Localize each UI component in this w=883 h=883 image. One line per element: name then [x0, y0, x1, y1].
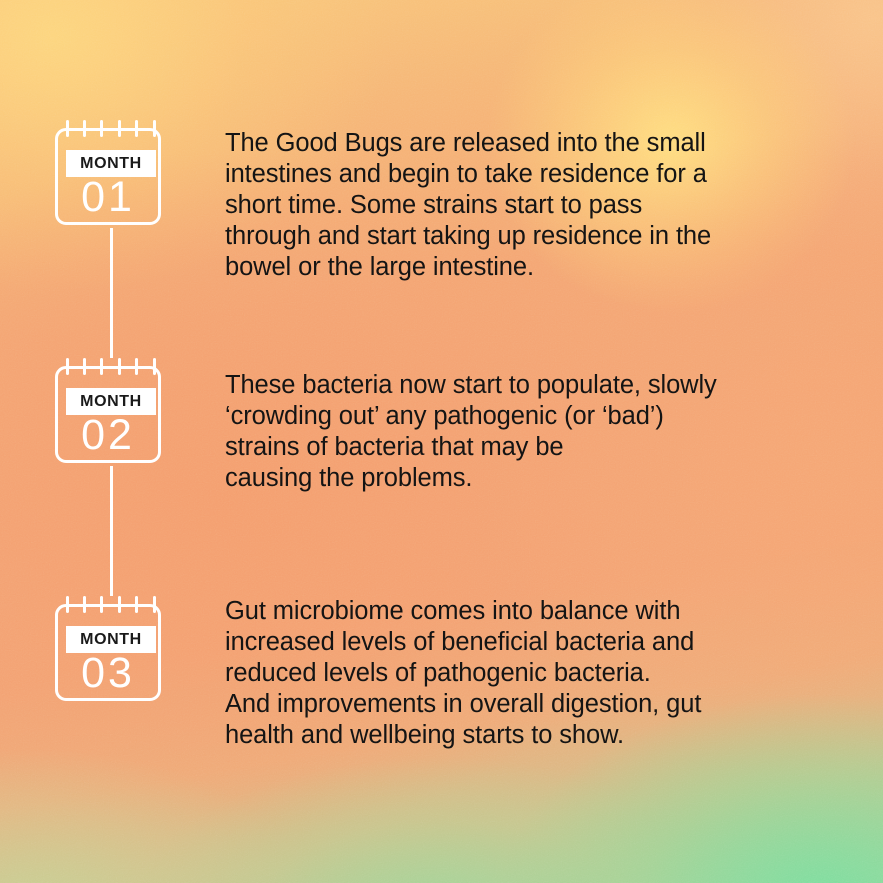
- infographic-canvas: MONTH 01 The Good Bugs are released into…: [0, 0, 883, 883]
- calendar-month-label: MONTH: [80, 394, 142, 410]
- timeline-connector-1-2: [110, 228, 113, 358]
- calendar-month-label: MONTH: [80, 632, 142, 648]
- timeline-connector-2-3: [110, 466, 113, 596]
- milestone-body-text: These bacteria now start to populate, sl…: [225, 370, 825, 494]
- milestone-body-text: The Good Bugs are released into the smal…: [225, 128, 825, 283]
- timeline: MONTH 01 The Good Bugs are released into…: [0, 0, 883, 883]
- calendar-month-number: 01: [55, 176, 161, 219]
- calendar-month-number: 03: [55, 652, 161, 695]
- milestone-body-text: Gut microbiome comes into balance with i…: [225, 596, 825, 751]
- calendar-month-label: MONTH: [80, 156, 142, 172]
- calendar-month-number: 02: [55, 414, 161, 457]
- calendar-icon: MONTH 03: [55, 596, 167, 704]
- calendar-icon: MONTH 02: [55, 358, 167, 466]
- calendar-icon: MONTH 01: [55, 120, 167, 228]
